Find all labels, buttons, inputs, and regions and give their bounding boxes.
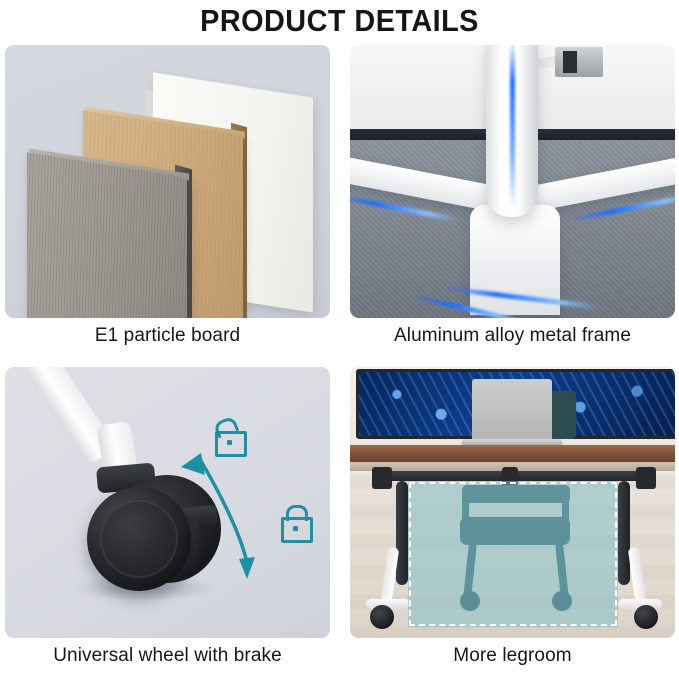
lock-body xyxy=(281,517,313,543)
legroom-highlight-area xyxy=(408,481,618,627)
detail-card-metal-frame xyxy=(350,45,675,318)
universal-wheel-image xyxy=(5,367,330,638)
folding-panel-left xyxy=(396,481,408,585)
detail-card-universal-wheel xyxy=(5,367,330,638)
lock-toggle-arrow-icon xyxy=(5,367,330,638)
folding-panel-right xyxy=(618,481,630,585)
caption-particle-board: E1 particle board xyxy=(5,325,330,347)
bracket-right xyxy=(636,467,656,489)
monitor-base xyxy=(555,47,603,77)
caption-metal-frame: Aluminum alloy metal frame xyxy=(350,325,675,347)
unlock-icon xyxy=(213,419,245,453)
desk-top xyxy=(350,445,675,462)
lock-icon xyxy=(279,505,311,539)
metal-frame-image xyxy=(350,45,675,318)
product-details-page: PRODUCT DETAILS xyxy=(0,0,679,673)
particle-board-image xyxy=(5,45,330,318)
caption-universal-wheel: Universal wheel with brake xyxy=(5,645,330,667)
grey-board xyxy=(27,152,187,318)
bracket-left xyxy=(372,467,392,489)
caption-more-legroom: More legroom xyxy=(350,645,675,667)
desk-caster-right xyxy=(634,605,658,629)
column-glow xyxy=(510,45,515,207)
detail-card-more-legroom xyxy=(350,367,675,638)
laptop-screen xyxy=(472,379,552,441)
more-legroom-image xyxy=(350,367,675,638)
page-title: PRODUCT DETAILS xyxy=(24,2,655,40)
detail-card-particle-board xyxy=(5,45,330,318)
unlock-body xyxy=(215,431,247,457)
desk-caster-left xyxy=(370,605,394,629)
